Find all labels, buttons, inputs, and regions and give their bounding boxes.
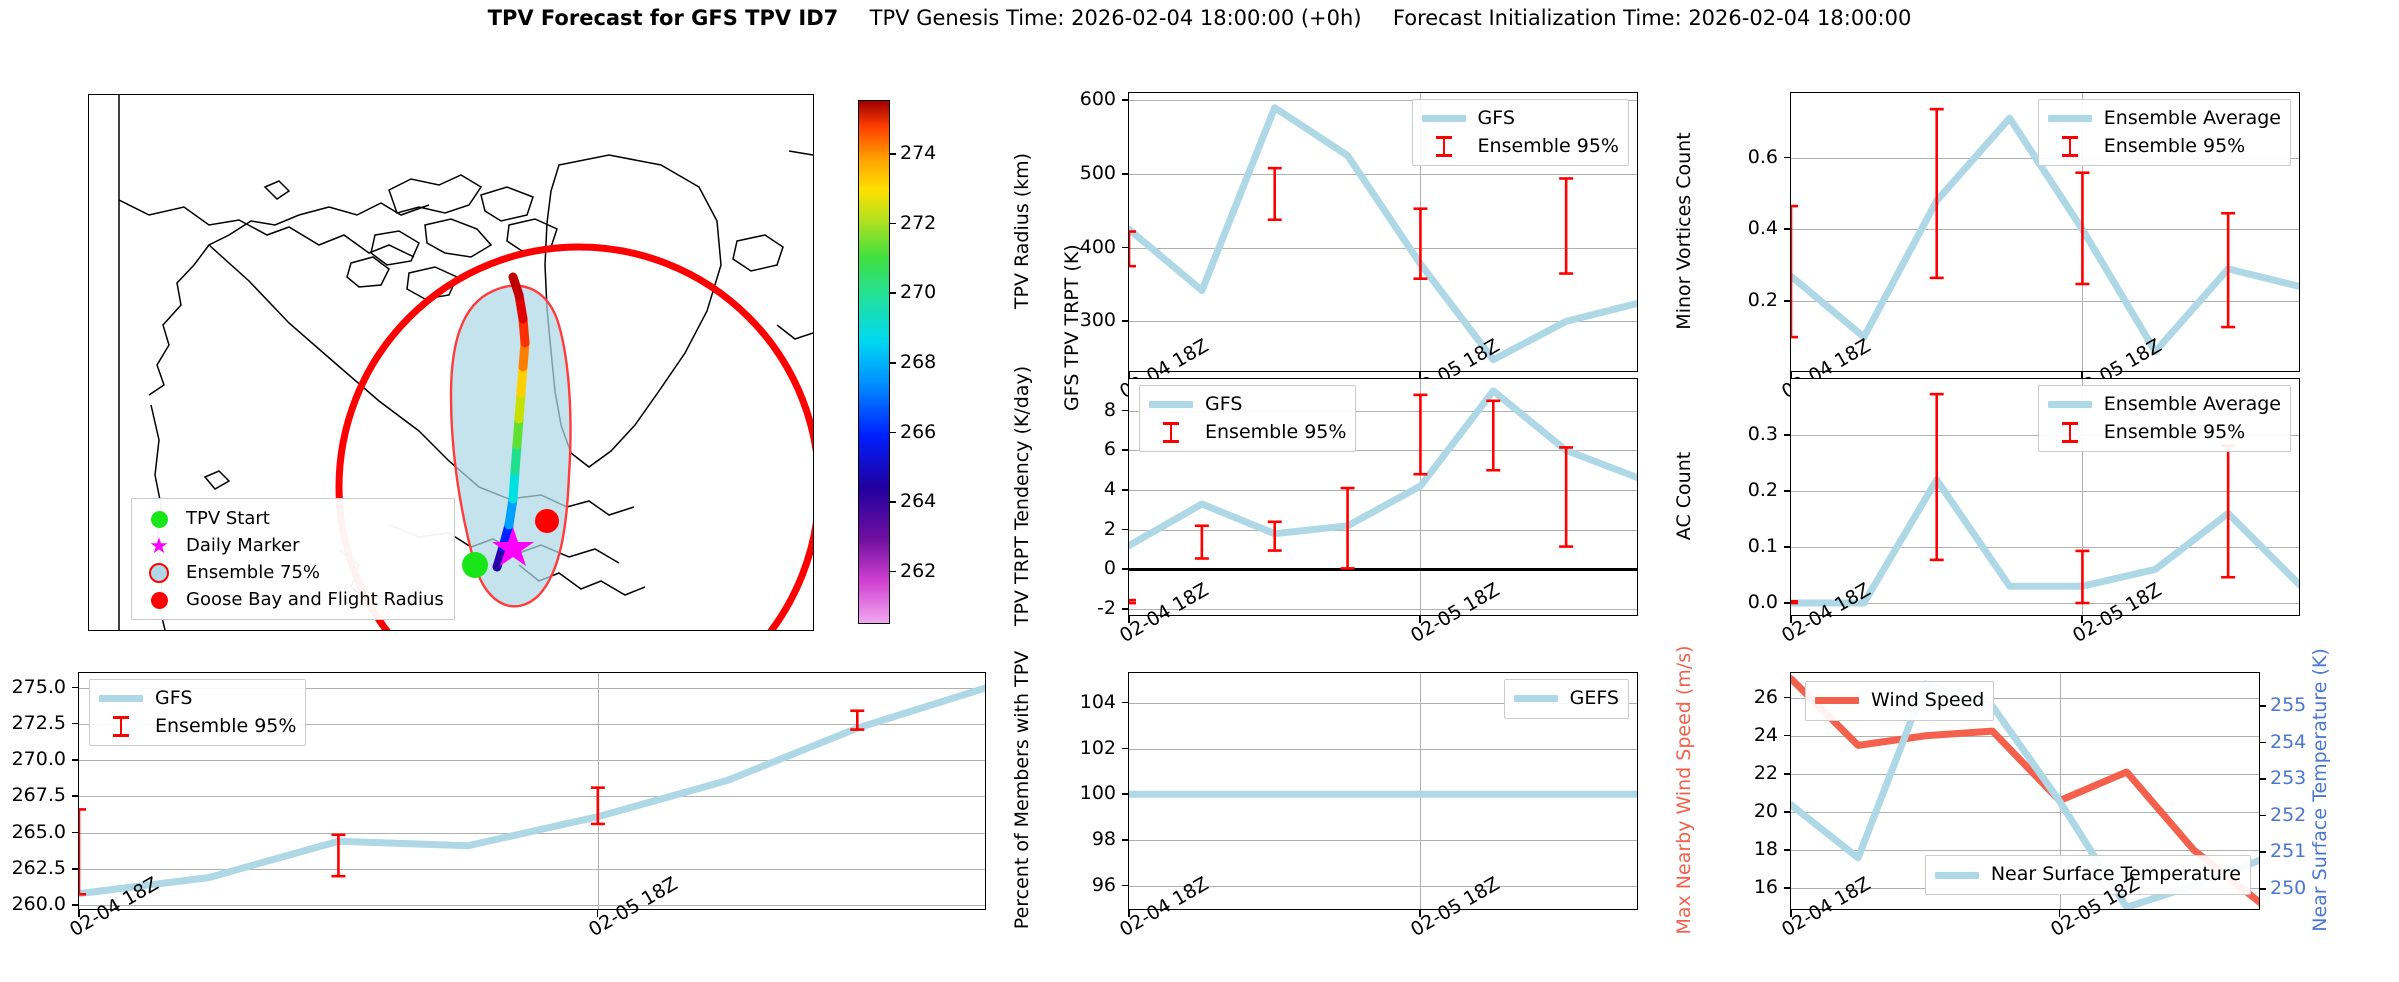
line-swatch <box>1149 401 1193 408</box>
legend-tpv-radius: GFSEnsemble 95% <box>1412 99 1629 166</box>
trpt-colorbar: 262264266268270272274 <box>858 100 890 624</box>
y-tick-label: 104 <box>1058 691 1116 713</box>
y-axis-label: Minor Vortices Count <box>1673 81 1695 381</box>
y-tick-label: 24 <box>1720 724 1778 746</box>
colorbar-tickmark <box>889 292 896 294</box>
plot-tpv-trpt-tendency[interactable]: GFSEnsemble 95% <box>1128 378 1638 616</box>
legend-label: TPV Start <box>186 505 270 532</box>
error-bar-swatch <box>2048 135 2092 157</box>
y-tick-label: 272.5 <box>8 712 66 734</box>
y-axis-label-right: Near Surface Temperature (K) <box>2309 640 2331 940</box>
legend-row: Wind Speed <box>1815 687 1984 715</box>
y-axis-label: AC Count <box>1673 346 1695 646</box>
legend-label: Goose Bay and Flight Radius <box>186 586 444 613</box>
y-tickmark <box>72 904 78 906</box>
y-tick-label: 18 <box>1720 838 1778 860</box>
legend-row: Ensemble 95% <box>2048 133 2281 161</box>
plot-minor-vortices[interactable]: Ensemble AverageEnsemble 95% <box>1790 92 2300 372</box>
error-bar <box>78 809 86 894</box>
y-tickmark <box>1122 320 1128 322</box>
title-init-time: Forecast Initialization Time: 2026-02-04… <box>1393 6 1911 30</box>
colorbar-tick-label: 262 <box>900 560 936 582</box>
y-tick-label: 400 <box>1058 236 1116 258</box>
colorbar-tick-label: 270 <box>900 281 936 303</box>
y-tick-label-right: 254 <box>2270 731 2306 753</box>
legend-label: GFS <box>1478 105 1515 133</box>
line-swatch <box>2048 115 2092 122</box>
y-tickmark-right <box>2260 778 2266 780</box>
y-tick-label: 20 <box>1720 800 1778 822</box>
y-tick-label: 4 <box>1058 478 1116 500</box>
error-bar <box>1790 601 1798 603</box>
error-bar-swatch <box>1149 421 1193 443</box>
y-tick-label-right: 252 <box>2270 804 2306 826</box>
legend-row: Ensemble Average <box>2048 391 2281 419</box>
error-bar-swatch <box>1422 135 1466 157</box>
green-circle-icon <box>142 505 176 532</box>
error-bar <box>2075 551 2089 603</box>
y-tickmark <box>1784 735 1790 737</box>
colorbar-tick-label: 264 <box>900 490 936 512</box>
plot-percent-members[interactable]: GEFS <box>1128 672 1638 910</box>
goose-bay-marker <box>535 509 559 533</box>
y-tick-label-right: 251 <box>2270 840 2306 862</box>
y-tickmark-right <box>2260 815 2266 817</box>
error-bar-swatch <box>99 715 143 737</box>
y-tickmark <box>1122 839 1128 841</box>
y-tick-label: 98 <box>1058 828 1116 850</box>
line-swatch <box>1422 115 1466 122</box>
page-title: TPV Forecast for GFS TPV ID7 TPV Genesis… <box>0 6 2399 30</box>
error-bar <box>1790 206 1798 337</box>
y-tickmark <box>1784 546 1790 548</box>
y-tickmark <box>72 832 78 834</box>
y-tickmark <box>1784 490 1790 492</box>
legend-row: Ensemble Average <box>2048 105 2281 133</box>
y-tick-label: 0.0 <box>1720 591 1778 613</box>
legend-item-daily-marker: ★ Daily Marker <box>142 532 444 559</box>
legend-wind-temperature: Near Surface Temperature <box>1925 855 2251 895</box>
y-tickmark <box>1122 793 1128 795</box>
legend-row: GFS <box>1149 391 1346 419</box>
legend-percent-members: GEFS <box>1504 679 1629 719</box>
y-tick-label: 500 <box>1058 162 1116 184</box>
legend-label: GEFS <box>1570 685 1619 713</box>
y-tick-label: 300 <box>1058 309 1116 331</box>
y-axis-label: Percent of Members with TPV <box>1011 640 1033 940</box>
magenta-star-icon: ★ <box>142 532 176 559</box>
y-tick-label-right: 253 <box>2270 767 2306 789</box>
y-tickmark <box>1784 697 1790 699</box>
plot-ac-count[interactable]: Ensemble AverageEnsemble 95% <box>1790 378 2300 616</box>
y-tickmark <box>1784 434 1790 436</box>
legend-label: Daily Marker <box>186 532 299 559</box>
legend-wind-temperature: Wind Speed <box>1805 681 1994 721</box>
y-tickmark <box>72 687 78 689</box>
legend-label: Wind Speed <box>1871 687 1984 715</box>
y-tickmark <box>1784 602 1790 604</box>
colorbar-title: GFS TPV TRPT (K) <box>1061 171 1083 411</box>
y-tick-label: 0 <box>1058 557 1116 579</box>
legend-row: GFS <box>99 685 296 713</box>
y-tickmark <box>72 759 78 761</box>
legend-label: Ensemble 95% <box>1205 419 1346 447</box>
colorbar-tick-label: 274 <box>900 142 936 164</box>
y-tick-label: 96 <box>1058 874 1116 896</box>
legend-label: Ensemble 95% <box>155 713 296 741</box>
legend-row: Ensemble 95% <box>1149 419 1346 447</box>
y-tickmark <box>1784 849 1790 851</box>
y-tick-label: 0.2 <box>1720 479 1778 501</box>
y-tickmark <box>1122 748 1128 750</box>
y-tickmark <box>72 868 78 870</box>
legend-tpv-trpt-tendency: GFSEnsemble 95% <box>1139 385 1356 452</box>
legend-label: Ensemble 75% <box>186 559 320 586</box>
colorbar-tickmark <box>889 501 896 503</box>
colorbar-tick-label: 272 <box>900 212 936 234</box>
legend-label: Ensemble Average <box>2104 391 2281 419</box>
y-tick-label: 2 <box>1058 518 1116 540</box>
y-tick-label: 265.0 <box>8 821 66 843</box>
line-swatch <box>1815 697 1859 704</box>
error-bar-swatch <box>2048 421 2092 443</box>
y-tick-label: 6 <box>1058 438 1116 460</box>
error-bar <box>1486 401 1500 470</box>
y-tick-label: 275.0 <box>8 676 66 698</box>
y-tick-label: 102 <box>1058 737 1116 759</box>
legend-ac-count: Ensemble AverageEnsemble 95% <box>2038 385 2291 452</box>
line-swatch <box>2048 401 2092 408</box>
colorbar-tickmark <box>889 571 896 573</box>
y-tick-label: 600 <box>1058 88 1116 110</box>
error-bar <box>1413 395 1427 474</box>
colorbar-tickmark <box>889 432 896 434</box>
y-tick-label: 0.4 <box>1720 217 1778 239</box>
legend-tpv-trpt: GFSEnsemble 95% <box>89 679 306 746</box>
legend-row: Ensemble 95% <box>1422 133 1619 161</box>
error-bar <box>1559 447 1573 546</box>
y-tick-label: 0.1 <box>1720 535 1778 557</box>
legend-row: Near Surface Temperature <box>1935 861 2241 889</box>
y-tickmark <box>1784 811 1790 813</box>
legend-row: GFS <box>1422 105 1619 133</box>
legend-row: Ensemble 95% <box>99 713 296 741</box>
y-tickmark <box>1122 489 1128 491</box>
legend-item-tpv-start: TPV Start <box>142 505 444 532</box>
y-tickmark <box>1122 99 1128 101</box>
y-tickmark <box>1784 773 1790 775</box>
y-tick-label: 270.0 <box>8 748 66 770</box>
y-tickmark <box>1122 173 1128 175</box>
y-tickmark-right <box>2260 742 2266 744</box>
y-axis-label: TPV TRPT Tendency (K/day) <box>1011 346 1033 646</box>
legend-label: GFS <box>1205 391 1242 419</box>
line-swatch <box>1935 872 1979 879</box>
y-tickmark-right <box>2260 705 2266 707</box>
tpv-track-map[interactable]: TPV Start ★ Daily Marker Ensemble 75% Go… <box>88 94 814 631</box>
y-tick-label: 0.3 <box>1720 423 1778 445</box>
y-tick-label: 0.6 <box>1720 146 1778 168</box>
y-tickmark <box>1784 887 1790 889</box>
y-tickmark <box>1784 228 1790 230</box>
ensemble-circle-icon <box>142 559 176 586</box>
y-tickmark <box>1122 247 1128 249</box>
y-tickmark <box>72 723 78 725</box>
y-tick-label-right: 250 <box>2270 877 2306 899</box>
y-tick-label: 100 <box>1058 782 1116 804</box>
title-main: TPV Forecast for GFS TPV ID7 <box>488 6 839 30</box>
legend-item-ensemble-75: Ensemble 75% <box>142 559 444 586</box>
y-tick-label: 267.5 <box>8 784 66 806</box>
error-bar <box>1559 178 1573 273</box>
map-legend: TPV Start ★ Daily Marker Ensemble 75% Go… <box>131 498 455 620</box>
line-swatch <box>99 695 143 702</box>
red-circle-icon <box>142 586 176 613</box>
y-tickmark <box>72 795 78 797</box>
tpv-start-marker <box>462 552 488 578</box>
colorbar-tickmark <box>889 153 896 155</box>
y-tick-label: 22 <box>1720 762 1778 784</box>
y-tick-label: 26 <box>1720 686 1778 708</box>
error-bar <box>1930 394 1944 560</box>
legend-row: Ensemble 95% <box>2048 419 2281 447</box>
legend-minor-vortices: Ensemble AverageEnsemble 95% <box>2038 99 2291 166</box>
legend-label: Ensemble 95% <box>2104 133 2245 161</box>
colorbar-tickmark <box>889 362 896 364</box>
y-tickmark <box>1122 885 1128 887</box>
y-tickmark-right <box>2260 888 2266 890</box>
y-tickmark <box>1784 157 1790 159</box>
y-tickmark <box>1784 300 1790 302</box>
y-tick-label: 16 <box>1720 876 1778 898</box>
tpv-forecast-dashboard: TPV Forecast for GFS TPV ID7 TPV Genesis… <box>0 0 2399 982</box>
plot-tpv-radius[interactable]: GFSEnsemble 95% <box>1128 92 1638 372</box>
y-tick-label: 260.0 <box>8 893 66 915</box>
y-axis-label: Max Nearby Wind Speed (m/s) <box>1673 640 1695 940</box>
y-tickmark <box>1122 608 1128 610</box>
colorbar-tick-label: 266 <box>900 421 936 443</box>
title-genesis-time: TPV Genesis Time: 2026-02-04 18:00:00 (+… <box>870 6 1362 30</box>
y-tick-label-right: 255 <box>2270 694 2306 716</box>
legend-label: GFS <box>155 685 192 713</box>
line-swatch <box>1514 695 1558 702</box>
error-bar <box>1128 600 1136 603</box>
legend-label: Ensemble Average <box>2104 105 2281 133</box>
error-bar <box>2221 446 2235 578</box>
legend-label: Ensemble 95% <box>2104 419 2245 447</box>
y-tick-label: -2 <box>1058 597 1116 619</box>
colorbar-tick-label: 268 <box>900 351 936 373</box>
series-line-ensemble-average <box>1791 480 2300 603</box>
y-tickmark <box>1122 568 1128 570</box>
plot-tpv-trpt[interactable]: GFSEnsemble 95% <box>78 672 986 910</box>
y-tickmark <box>1122 702 1128 704</box>
y-tick-label: 262.5 <box>8 857 66 879</box>
error-bar <box>1268 168 1282 220</box>
y-tick-label: 0.2 <box>1720 289 1778 311</box>
legend-row: GEFS <box>1514 685 1619 713</box>
colorbar-tickmark <box>889 223 896 225</box>
y-tickmark <box>1122 410 1128 412</box>
y-tickmark <box>1122 449 1128 451</box>
y-tickmark <box>1122 529 1128 531</box>
y-tickmark-right <box>2260 851 2266 853</box>
y-tick-label: 8 <box>1058 399 1116 421</box>
legend-item-goose-bay: Goose Bay and Flight Radius <box>142 586 444 613</box>
legend-label: Ensemble 95% <box>1478 133 1619 161</box>
y-axis-label: TPV Radius (km) <box>1011 81 1033 381</box>
error-bar <box>1195 526 1209 559</box>
